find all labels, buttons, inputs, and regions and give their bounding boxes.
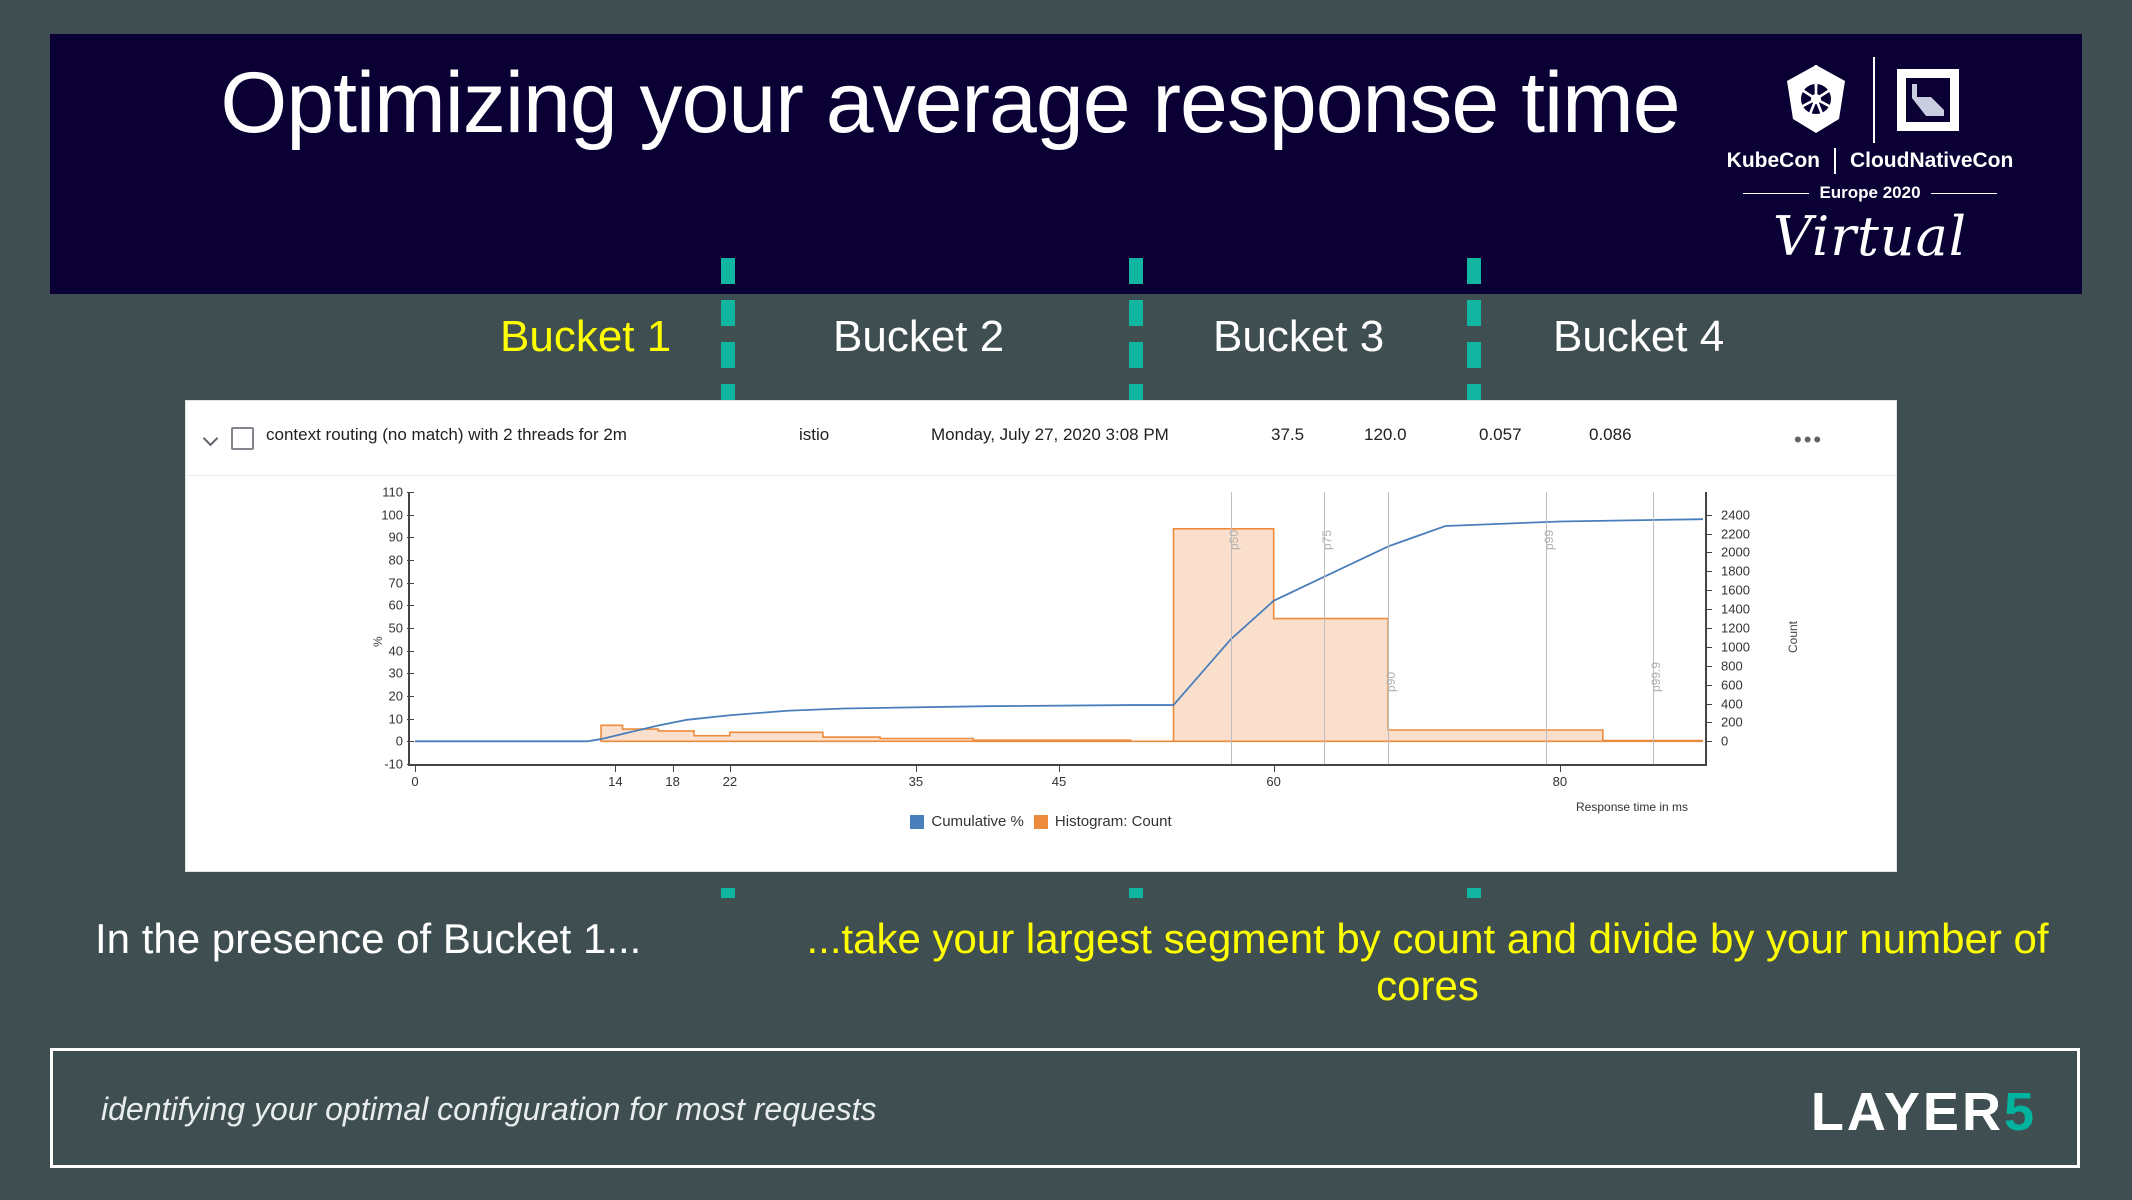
y2-tick-label: 1600 [1721, 583, 1750, 598]
y-axis-left-label: % [371, 636, 385, 647]
y-tick-label: 50 [359, 621, 403, 636]
kubecon-cloudnativecon-logo: KubeCon CloudNativeCon Europe 2020 Virtu… [1720, 54, 2020, 274]
y2-tick-mark [1705, 685, 1712, 686]
cloudnativecon-label: CloudNativeCon [1850, 149, 2013, 173]
percentile-line-p99.9 [1653, 492, 1654, 764]
y2-tick-mark [1705, 647, 1712, 648]
bucket-label-1: Bucket 1 [500, 312, 671, 362]
caption-right: ...take your largest segment by count an… [795, 915, 2060, 1009]
histogram-bars [601, 529, 1703, 742]
y-tick-label: 110 [359, 485, 403, 500]
legend-item-histogram: Histogram: Count [1034, 813, 1172, 830]
bucket-label-3: Bucket 3 [1213, 312, 1384, 362]
logo-divider [1873, 57, 1875, 143]
x-tick-label: 80 [1553, 774, 1567, 789]
cncf-icon [1897, 69, 1959, 131]
y-tick-label: 90 [359, 530, 403, 545]
y-tick-label: 60 [359, 598, 403, 613]
x-tick-label: 14 [608, 774, 622, 789]
throughput-cell: 37.5 [1271, 425, 1304, 445]
layer5-logo: LAYER5 [1811, 1081, 2037, 1143]
y2-tick-label: 2400 [1721, 507, 1750, 522]
legend-swatch-histogram [1034, 815, 1048, 829]
y-tick-label: -10 [359, 757, 403, 772]
kubernetes-helm-icon [1781, 63, 1851, 137]
y-tick-mark [407, 764, 414, 765]
y2-tick-mark [1705, 722, 1712, 723]
percentile-label-p75: p75 [1320, 530, 1334, 550]
legend-swatch-cumulative [910, 815, 924, 829]
y2-tick-mark [1705, 590, 1712, 591]
timestamp-cell: Monday, July 27, 2020 3:08 PM [931, 425, 1169, 445]
x-tick-mark [730, 766, 731, 772]
x-tick-label: 35 [909, 774, 923, 789]
y2-tick-label: 2000 [1721, 545, 1750, 560]
bucket-label-2: Bucket 2 [833, 312, 1004, 362]
y-tick-label: 10 [359, 711, 403, 726]
row-checkbox[interactable] [231, 427, 254, 450]
caption-left: In the presence of Bucket 1... [95, 915, 641, 963]
y2-tick-mark [1705, 609, 1712, 610]
y-tick-label: 80 [359, 553, 403, 568]
x-tick-mark [1560, 766, 1561, 772]
y2-tick-label: 600 [1721, 677, 1743, 692]
y-axis-right-label: Count [1786, 621, 1800, 653]
x-axis-label: Response time in ms [1576, 800, 1688, 814]
y-tick-mark [407, 537, 414, 538]
table-row[interactable]: context routing (no match) with 2 thread… [186, 401, 1896, 476]
chart-legend: Cumulative % Histogram: Count [186, 813, 1896, 830]
footer-bar: identifying your optimal configuration f… [50, 1048, 2080, 1168]
chart-canvas [415, 492, 1703, 764]
y-tick-mark [407, 696, 414, 697]
chart-plot-area [415, 492, 1703, 764]
edition-rule-right [1931, 193, 1997, 194]
percentile-line-p90 [1388, 492, 1389, 764]
y-tick-mark [407, 673, 414, 674]
percentile-label-p50: p50 [1227, 530, 1241, 550]
y-tick-mark [407, 492, 414, 493]
mesh-cell: istio [799, 425, 829, 445]
y2-tick-label: 400 [1721, 696, 1743, 711]
latency-avg-cell: 0.057 [1479, 425, 1522, 445]
x-tick-label: 45 [1052, 774, 1066, 789]
y-tick-mark [407, 628, 414, 629]
y-tick-label: 20 [359, 689, 403, 704]
y2-tick-mark [1705, 741, 1712, 742]
y-tick-label: 100 [359, 507, 403, 522]
percentile-label-p99: p99 [1542, 530, 1556, 550]
edition-rule-left [1743, 193, 1809, 194]
percentile-label-p90: p90 [1384, 672, 1398, 692]
footer-tagline: identifying your optimal configuration f… [101, 1091, 877, 1128]
x-tick-mark [673, 766, 674, 772]
latency-histogram-chart: -100102030405060708090100110 02004006008… [186, 475, 1896, 871]
edition-label: Europe 2020 [1819, 183, 1920, 203]
y2-tick-label: 1800 [1721, 564, 1750, 579]
y2-tick-label: 1400 [1721, 602, 1750, 617]
x-tick-label: 0 [411, 774, 418, 789]
layer5-logo-main: LAYER [1811, 1082, 2004, 1142]
y2-tick-mark [1705, 552, 1712, 553]
x-tick-mark [916, 766, 917, 772]
y-tick-mark [407, 719, 414, 720]
y-tick-mark [407, 515, 414, 516]
y2-tick-mark [1705, 534, 1712, 535]
bucket-label-4: Bucket 4 [1553, 312, 1724, 362]
y2-tick-mark [1705, 704, 1712, 705]
y2-tick-mark [1705, 628, 1712, 629]
percentile-label-p99.9: p99.9 [1649, 662, 1663, 692]
y-tick-mark [407, 605, 414, 606]
page-title: Optimizing your average response time [170, 60, 1730, 148]
y2-tick-label: 0 [1721, 734, 1728, 749]
performance-results-panel: context routing (no match) with 2 thread… [185, 400, 1897, 872]
y2-tick-label: 200 [1721, 715, 1743, 730]
latency-p99-cell: 0.086 [1589, 425, 1632, 445]
x-tick-mark [415, 766, 416, 772]
row-overflow-menu-icon[interactable]: ••• [1794, 427, 1823, 453]
x-tick-label: 22 [723, 774, 737, 789]
legend-item-cumulative: Cumulative % [910, 813, 1024, 830]
y2-tick-label: 800 [1721, 658, 1743, 673]
y2-tick-label: 2200 [1721, 526, 1750, 541]
test-name-cell: context routing (no match) with 2 thread… [266, 425, 627, 445]
y-tick-mark [407, 741, 414, 742]
y-tick-label: 30 [359, 666, 403, 681]
y2-tick-label: 1200 [1721, 621, 1750, 636]
x-tick-label: 60 [1266, 774, 1280, 789]
title-banner: Optimizing your average response time [50, 34, 2082, 294]
y-tick-mark [407, 583, 414, 584]
x-tick-label: 18 [665, 774, 679, 789]
x-tick-mark [1059, 766, 1060, 772]
x-tick-mark [615, 766, 616, 772]
y-tick-label: 0 [359, 734, 403, 749]
virtual-label: Virtual [1773, 205, 1967, 268]
x-axis [408, 764, 1707, 766]
name-divider [1834, 148, 1836, 174]
y2-tick-mark [1705, 515, 1712, 516]
count-cell: 120.0 [1364, 425, 1407, 445]
x-tick-mark [1274, 766, 1275, 772]
y-tick-mark [407, 560, 414, 561]
chevron-down-icon[interactable] [202, 429, 220, 447]
y2-tick-mark [1705, 666, 1712, 667]
layer5-logo-accent: 5 [2004, 1082, 2037, 1142]
y-tick-label: 70 [359, 575, 403, 590]
legend-label-cumulative: Cumulative % [931, 813, 1024, 830]
y-tick-mark [407, 651, 414, 652]
kubecon-label: KubeCon [1727, 149, 1820, 173]
cumulative-line [415, 519, 1703, 741]
y2-tick-label: 1000 [1721, 639, 1750, 654]
legend-label-histogram: Histogram: Count [1055, 813, 1172, 830]
y2-tick-mark [1705, 571, 1712, 572]
